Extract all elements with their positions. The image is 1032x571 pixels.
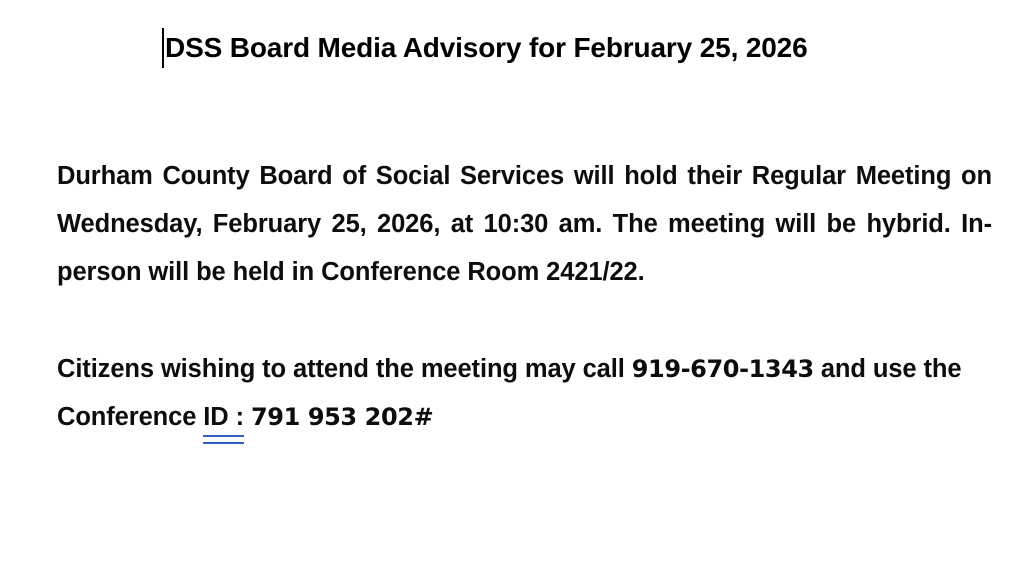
paragraph-meeting-notice[interactable]: Durham County Board of Social Services w… bbox=[57, 152, 992, 296]
paragraph-meeting-notice-text: Durham County Board of Social Services w… bbox=[57, 162, 992, 286]
text-caret bbox=[162, 28, 164, 68]
id-separator-space bbox=[244, 403, 251, 431]
page-title: DSS Board Media Advisory for February 25… bbox=[165, 33, 808, 64]
document-body: Durham County Board of Social Services w… bbox=[57, 152, 992, 441]
paragraph-spacer bbox=[57, 296, 992, 345]
grammar-flagged-id-label[interactable]: ID : bbox=[203, 393, 244, 441]
conference-id-value: 791 953 202# bbox=[251, 403, 433, 431]
call-instruction-text: Citizens wishing to attend the meeting m… bbox=[57, 355, 632, 383]
paragraph-call-in-details[interactable]: Citizens wishing to attend the meeting m… bbox=[57, 345, 992, 441]
phone-number: 919-670-1343 bbox=[632, 355, 814, 383]
document-page: DSS Board Media Advisory for February 25… bbox=[0, 0, 1032, 571]
document-title-line[interactable]: DSS Board Media Advisory for February 25… bbox=[162, 25, 922, 71]
